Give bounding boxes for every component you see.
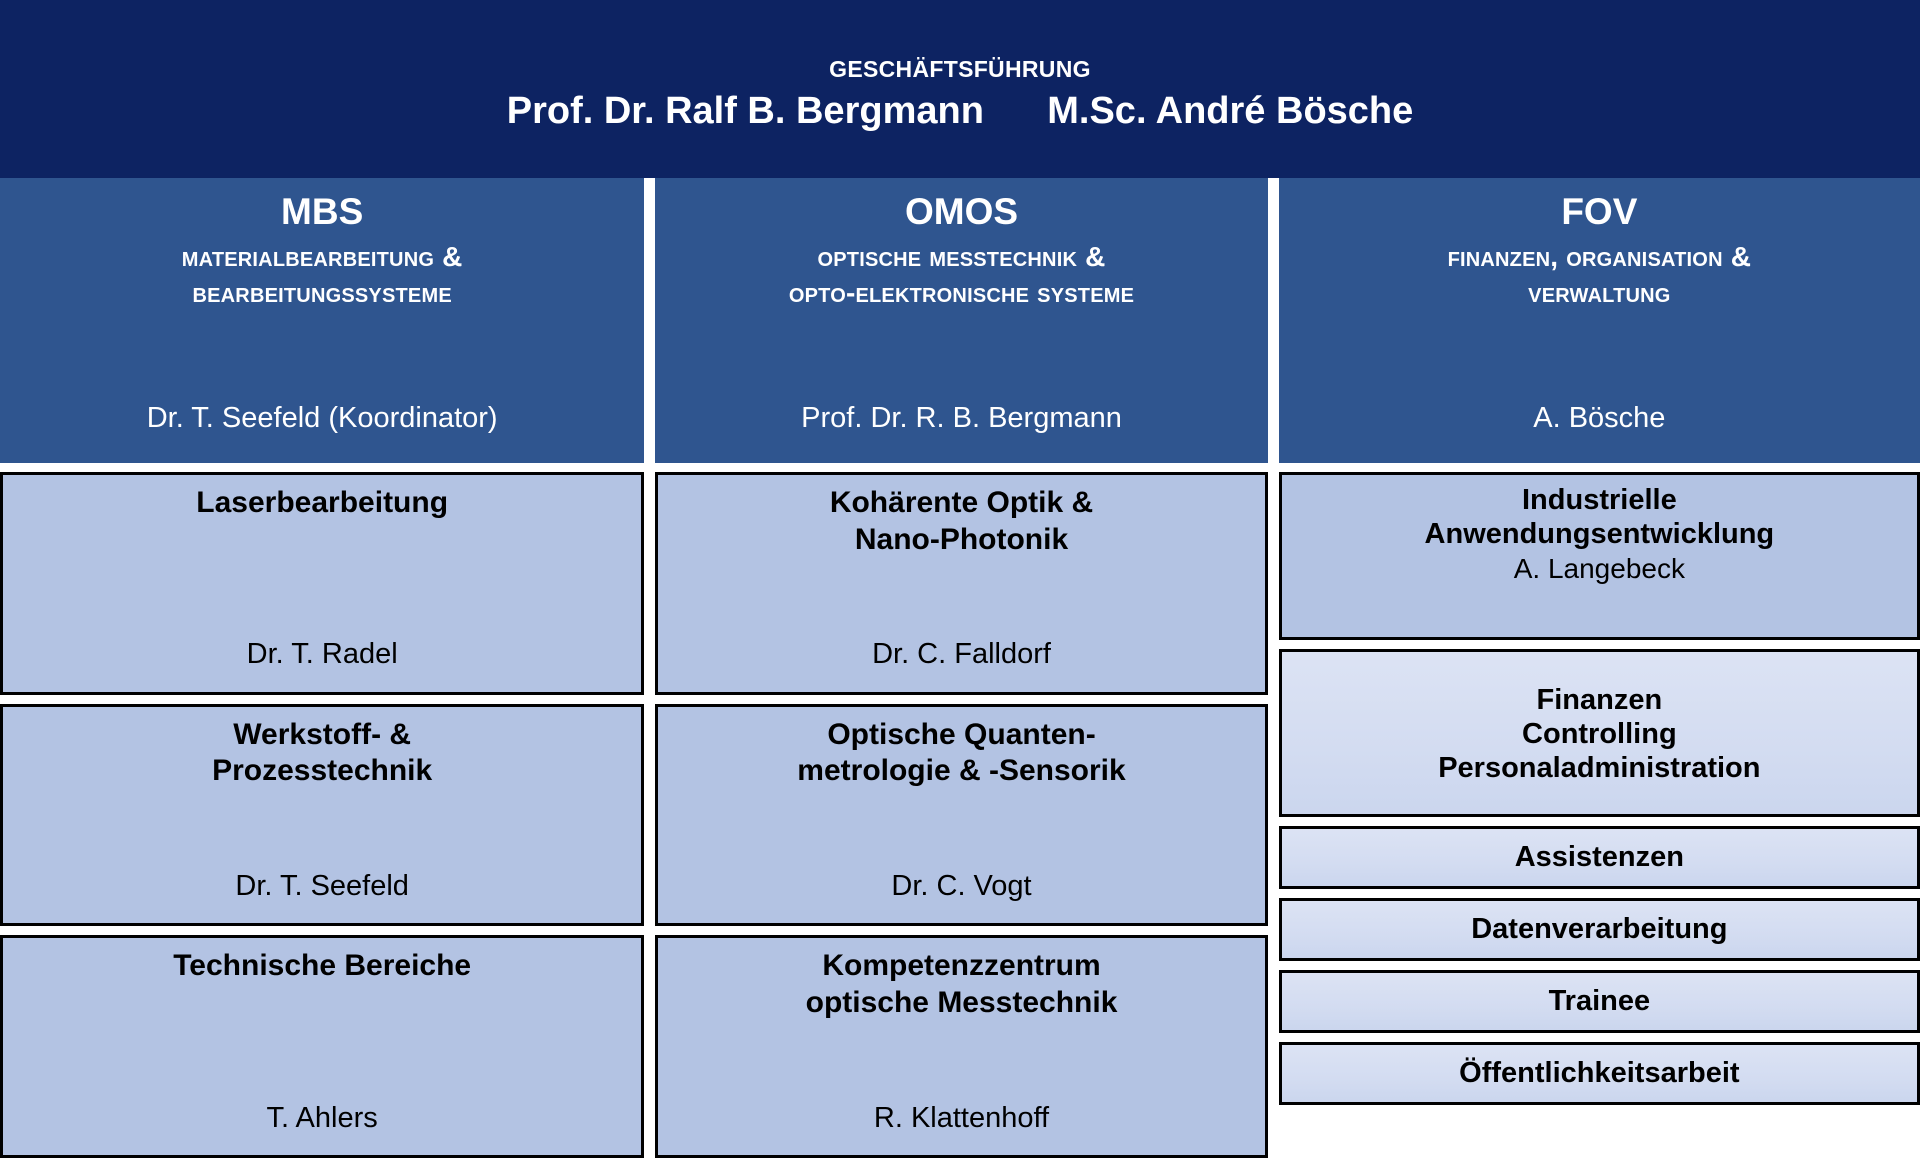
group-box-kohaerente-optik[interactable]: Kohärente Optik & Nano-Photonik Dr. C. F… bbox=[655, 472, 1267, 695]
column-omos: OMOS Optische Messtechnik & Opto-elektro… bbox=[655, 178, 1267, 1158]
group-box-finanzen-controlling[interactable]: Finanzen Controlling Personaladministrat… bbox=[1279, 649, 1920, 817]
management-banner: Geschäftsführung Prof. Dr. Ralf B. Bergm… bbox=[0, 0, 1920, 178]
org-chart: Geschäftsführung Prof. Dr. Ralf B. Bergm… bbox=[0, 0, 1920, 1158]
group-title-line1: Technische Bereiche bbox=[173, 948, 471, 985]
group-person: Dr. C. Falldorf bbox=[872, 638, 1051, 683]
group-box-werkstoff-prozesstechnik[interactable]: Werkstoff- & Prozesstechnik Dr. T. Seefe… bbox=[0, 704, 644, 927]
group-person: A. Langebeck bbox=[1514, 553, 1685, 589]
group-title-line2: Prozesstechnik bbox=[212, 753, 432, 790]
group-person: R. Klattenhoff bbox=[874, 1102, 1049, 1147]
department-header-fov[interactable]: FOV Finanzen, Organisation & Verwaltung … bbox=[1279, 178, 1920, 463]
department-abbr-mbs: MBS bbox=[281, 192, 363, 233]
group-box-laserbearbeitung[interactable]: Laserbearbeitung Dr. T. Radel bbox=[0, 472, 644, 695]
management-names: Prof. Dr. Ralf B. Bergmann M.Sc. André B… bbox=[507, 91, 1414, 133]
group-box-oeffentlichkeitsarbeit[interactable]: Öffentlichkeitsarbeit bbox=[1279, 1042, 1920, 1105]
group-title-line1: Optische Quanten- bbox=[827, 717, 1095, 754]
group-title-line2: optische Messtechnik bbox=[806, 985, 1118, 1022]
group-title-line1: Industrielle bbox=[1522, 483, 1677, 517]
department-lead-omos: Prof. Dr. R. B. Bergmann bbox=[801, 402, 1122, 451]
group-box-trainee[interactable]: Trainee bbox=[1279, 970, 1920, 1033]
department-lead-mbs: Dr. T. Seefeld (Koordinator) bbox=[147, 402, 498, 451]
group-person: T. Ahlers bbox=[267, 1102, 378, 1147]
department-fullname-omos-line2: Opto-elektronische Systeme bbox=[789, 275, 1134, 311]
group-title-line1: Kohärente Optik & bbox=[830, 485, 1093, 522]
department-lead-fov: A. Bösche bbox=[1533, 402, 1665, 451]
group-title-line1: Finanzen bbox=[1537, 683, 1663, 717]
group-title-line1: Öffentlichkeitsarbeit bbox=[1459, 1056, 1739, 1090]
group-title-line1: Werkstoff- & bbox=[233, 717, 411, 754]
department-columns: MBS Materialbearbeitung & Bearbeitungssy… bbox=[0, 178, 1920, 1158]
group-box-kompetenzzentrum[interactable]: Kompetenzzentrum optische Messtechnik R.… bbox=[655, 935, 1267, 1158]
group-person: Dr. T. Radel bbox=[247, 638, 398, 683]
department-abbr-omos: OMOS bbox=[905, 192, 1018, 233]
column-fov: FOV Finanzen, Organisation & Verwaltung … bbox=[1279, 178, 1920, 1158]
group-title-line1: Assistenzen bbox=[1515, 840, 1684, 874]
group-title-line3: Personaladministration bbox=[1438, 751, 1760, 785]
group-title-line2: metrologie & -Sensorik bbox=[797, 753, 1125, 790]
department-fullname-mbs-line2: Bearbeitungssysteme bbox=[192, 275, 451, 311]
group-title-line1: Datenverarbeitung bbox=[1471, 912, 1727, 946]
department-fullname-fov-line2: Verwaltung bbox=[1528, 275, 1670, 311]
department-header-mbs[interactable]: MBS Materialbearbeitung & Bearbeitungssy… bbox=[0, 178, 644, 463]
group-title-line2: Anwendungsentwicklung bbox=[1425, 517, 1775, 551]
department-abbr-fov: FOV bbox=[1561, 192, 1637, 233]
group-person: Dr. T. Seefeld bbox=[235, 870, 409, 915]
management-title: Geschäftsführung bbox=[829, 49, 1091, 84]
group-person: Dr. C. Vogt bbox=[891, 870, 1031, 915]
group-title-line2: Nano-Photonik bbox=[855, 522, 1068, 559]
department-fullname-omos-line1: Optische Messtechnik & bbox=[818, 239, 1106, 275]
department-fullname-fov-line1: Finanzen, Organisation & bbox=[1448, 239, 1752, 275]
group-box-datenverarbeitung[interactable]: Datenverarbeitung bbox=[1279, 898, 1920, 961]
group-box-industrielle-anwendungsentwicklung[interactable]: Industrielle Anwendungsentwicklung A. La… bbox=[1279, 472, 1920, 640]
department-fullname-mbs-line1: Materialbearbeitung & bbox=[182, 239, 463, 275]
group-title-line1: Trainee bbox=[1549, 984, 1651, 1018]
group-title-line2: Controlling bbox=[1522, 717, 1677, 751]
department-header-omos[interactable]: OMOS Optische Messtechnik & Opto-elektro… bbox=[655, 178, 1267, 463]
group-title-line1: Laserbearbeitung bbox=[196, 485, 448, 522]
group-title-line1: Kompetenzzentrum bbox=[822, 948, 1100, 985]
column-mbs: MBS Materialbearbeitung & Bearbeitungssy… bbox=[0, 178, 644, 1158]
group-box-optische-quantenmetrologie[interactable]: Optische Quanten- metrologie & -Sensorik… bbox=[655, 704, 1267, 927]
group-box-assistenzen[interactable]: Assistenzen bbox=[1279, 826, 1920, 889]
group-box-technische-bereiche[interactable]: Technische Bereiche T. Ahlers bbox=[0, 935, 644, 1158]
